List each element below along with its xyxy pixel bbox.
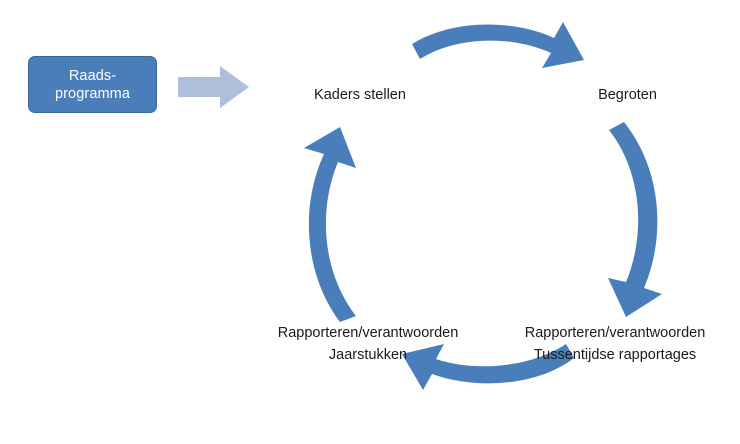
stage-label-sub: Jaarstukken <box>243 344 493 366</box>
stage-label-kaders-stellen: Kaders stellen <box>245 84 475 106</box>
stage-label-main: Kaders stellen <box>314 87 406 103</box>
stage-label-main: Rapporteren/verantwoorden <box>278 325 459 341</box>
curved-arrow-down-icon <box>600 118 680 318</box>
arrow-right-icon <box>178 66 250 108</box>
stage-label-rapporteren-jaarstukken: Rapporteren/verantwoorden Jaarstukken <box>243 322 493 366</box>
curved-arrow-up-icon <box>286 126 366 326</box>
stage-label-main: Rapporteren/verantwoorden <box>525 325 706 341</box>
curved-arrow-right-icon <box>408 22 588 82</box>
source-box-raadsprogramma[interactable]: Raads- programma <box>28 56 157 113</box>
diagram-canvas: Raads- programma Kaders stellen Begr <box>0 0 740 444</box>
source-box-label-line2: programma <box>55 85 130 103</box>
stage-label-rapporteren-tussentijds: Rapporteren/verantwoorden Tussentijdse r… <box>495 322 735 366</box>
stage-label-begroten: Begroten <box>520 84 735 106</box>
stage-label-sub: Tussentijdse rapportages <box>495 344 735 366</box>
source-box-label-line1: Raads- <box>69 67 116 85</box>
stage-label-main: Begroten <box>598 87 657 103</box>
